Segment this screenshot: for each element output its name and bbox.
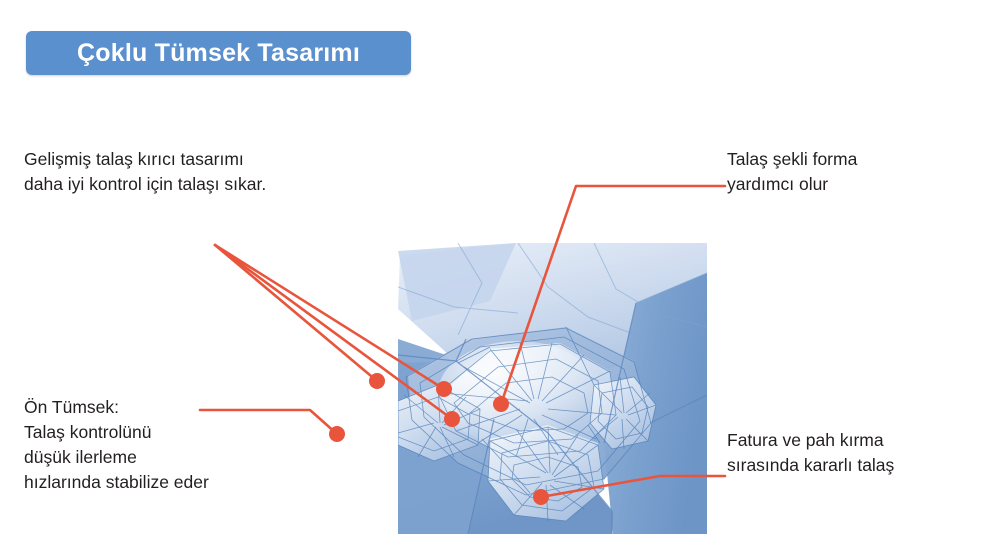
leader-chip-breaker-a-dot — [369, 373, 385, 389]
callout-facing-chamfering: Fatura ve pah kırma sırasında kararlı ta… — [727, 428, 977, 478]
leader-front-bump-dot — [329, 426, 345, 442]
leader-chip-breaker-a — [215, 245, 377, 381]
render-body — [398, 243, 707, 534]
page-title: Çoklu Tümsek Tasarımı — [77, 41, 360, 66]
insert-3d-render — [398, 243, 707, 534]
callout-chip-breaker-design: Gelişmiş talaş kırıcı tasarımı daha iyi … — [24, 147, 384, 197]
callout-chip-shape: Talaş şekli forma yardımcı olur — [727, 147, 977, 197]
page-title-badge: Çoklu Tümsek Tasarımı — [26, 31, 411, 75]
callout-front-bump: Ön Tümsek: Talaş kontrolünü düşük ilerle… — [24, 395, 324, 495]
insert-render-svg — [398, 243, 707, 534]
